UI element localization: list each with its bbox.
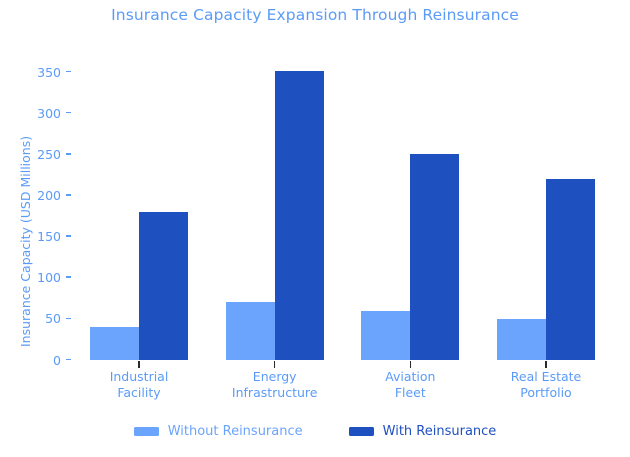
x-axis-tick-label-line: Energy: [232, 369, 318, 385]
x-axis-tick-label: Real EstatePortfolio: [511, 369, 581, 401]
y-axis-tick-label: 350: [37, 66, 61, 80]
x-axis-tick-label-line: Infrastructure: [232, 385, 318, 401]
x-axis-tick-mark: [545, 361, 547, 368]
y-axis-tick: 200: [37, 188, 71, 202]
y-axis-tick-label: 0: [53, 354, 61, 368]
y-axis-tick: 250: [37, 147, 71, 161]
legend-label: Without Reinsurance: [168, 424, 303, 439]
x-axis-tick-label-line: Aviation: [385, 369, 435, 385]
y-axis-tick-label: 100: [37, 271, 61, 285]
x-axis-tick-label-line: Industrial: [110, 369, 169, 385]
y-axis-tick: 50: [45, 312, 71, 326]
bar[interactable]: [546, 179, 595, 360]
bar[interactable]: [497, 319, 546, 360]
y-axis-tick-label: 250: [37, 148, 61, 162]
y-axis-tick-label: 50: [45, 312, 61, 326]
y-axis-tick-label: 150: [37, 230, 61, 244]
x-axis-tick-label: EnergyInfrastructure: [232, 369, 318, 401]
legend-item[interactable]: Without Reinsurance: [134, 424, 303, 439]
y-axis-tick-label: 300: [37, 107, 61, 121]
x-axis-tick-label-line: Fleet: [385, 385, 435, 401]
bar[interactable]: [139, 212, 188, 360]
x-axis-tick-label-line: Facility: [110, 385, 169, 401]
x-axis-tick-label-line: Portfolio: [511, 385, 581, 401]
y-axis-tick-label: 200: [37, 189, 61, 203]
y-axis-tick: 150: [37, 230, 71, 244]
x-axis-tick-mark: [274, 361, 276, 368]
bar[interactable]: [275, 71, 324, 360]
bar[interactable]: [410, 154, 459, 360]
chart-legend: Without ReinsuranceWith Reinsurance: [0, 424, 630, 439]
y-axis-tick: 350: [37, 65, 71, 79]
x-axis-tick-label-line: Real Estate: [511, 369, 581, 385]
bar[interactable]: [361, 311, 410, 360]
x-axis-tick-mark: [138, 361, 140, 368]
legend-item[interactable]: With Reinsurance: [349, 424, 497, 439]
x-axis-tick-mark: [410, 361, 412, 368]
bar[interactable]: [226, 302, 275, 360]
legend-swatch: [134, 427, 159, 436]
x-axis-tick-label: AviationFleet: [385, 369, 435, 401]
y-axis: Insurance Capacity (USD Millions) 050100…: [0, 0, 71, 457]
chart-title: Insurance Capacity Expansion Through Rei…: [0, 6, 630, 24]
y-axis-tick: 300: [37, 106, 71, 120]
y-axis-tick: 0: [53, 353, 71, 367]
y-axis-tick: 100: [37, 271, 71, 285]
bar-chart: Insurance Capacity Expansion Through Rei…: [0, 0, 630, 457]
legend-label: With Reinsurance: [383, 424, 497, 439]
y-axis-title: Insurance Capacity (USD Millions): [18, 136, 33, 347]
legend-swatch: [349, 427, 374, 436]
bar[interactable]: [90, 327, 139, 360]
x-axis-tick-label: IndustrialFacility: [110, 369, 169, 401]
